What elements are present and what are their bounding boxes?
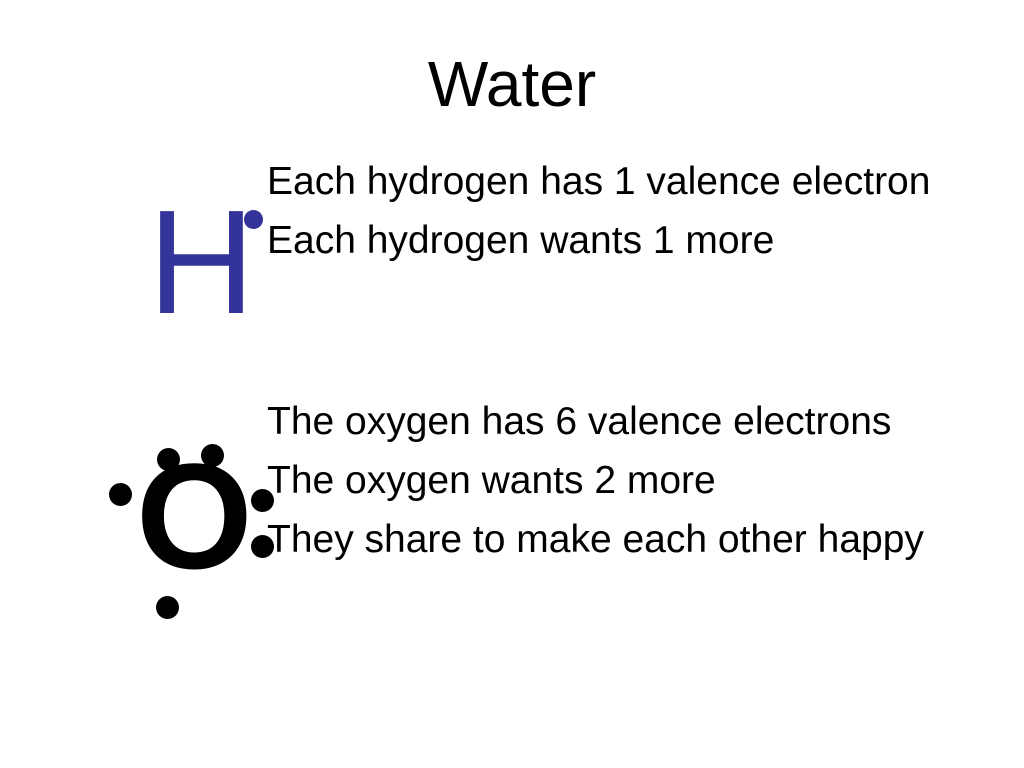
list-item: The oxygen has 6 valence electrons — [267, 392, 967, 451]
oxygen-electron-dot-icon-bottom — [156, 596, 179, 619]
hydrogen-electron-dot-icon — [244, 210, 263, 229]
list-item: Each hydrogen has 1 valence electron — [267, 152, 967, 211]
oxygen-electron-dot-icon-top-left — [157, 448, 180, 471]
list-item: The oxygen wants 2 more — [267, 451, 967, 510]
oxygen-text-block: The oxygen has 6 valence electrons The o… — [307, 392, 967, 569]
list-item: They share to make each other happy — [267, 510, 967, 569]
page-title: Water — [0, 52, 1024, 116]
oxygen-electron-dot-icon-left — [109, 483, 132, 506]
slide-canvas: Water H Each hydrogen has 1 valence elec… — [0, 0, 1024, 768]
oxygen-symbol-letter: O — [136, 442, 253, 590]
oxygen-electron-dot-icon-top-right — [201, 444, 224, 467]
list-item: Each hydrogen wants 1 more — [267, 211, 967, 270]
hydrogen-text-block: Each hydrogen has 1 valence electron Eac… — [307, 152, 967, 270]
hydrogen-symbol-letter: H — [148, 190, 255, 335]
